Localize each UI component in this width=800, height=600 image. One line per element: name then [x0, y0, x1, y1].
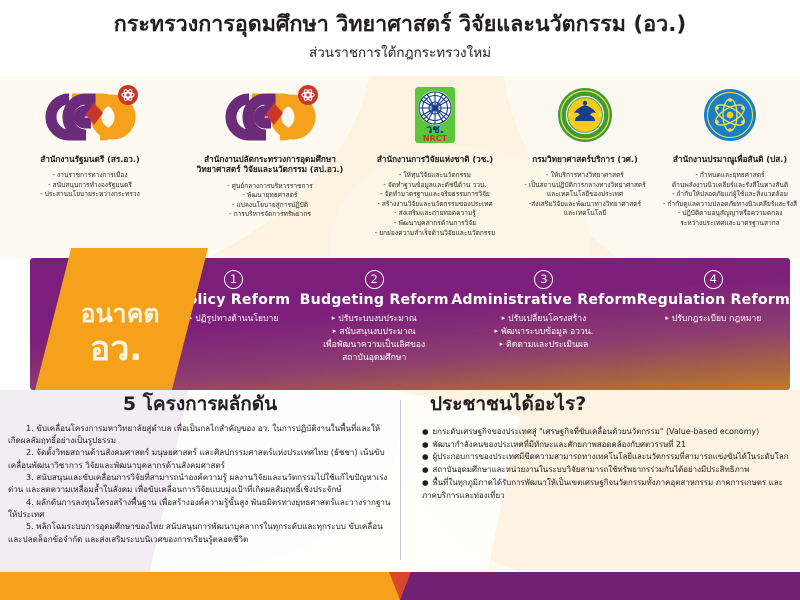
benefit-item: พัฒนากำลังคนของประเทศที่มีทักษะและศักยภา… — [422, 439, 790, 452]
agency-name: กรมวิทยาศาสตร์บริการ (วศ.) — [528, 154, 641, 164]
reform-bullets: ปรับระบบงบประมาณ สนับสนุนงบประมาณ เพื่อพ… — [297, 313, 451, 365]
agency-card-nrct: วช. NRCT สำนักงานการวิจัยแห่งชาติ (วช.) … — [360, 76, 510, 258]
agency-duties: - งานราชการทางการเมือง - สนับสนุนการทำงอ… — [37, 171, 143, 200]
duty-item: ด้านพลังงานนิวเคลียร์และรังสีในทางสันติ — [663, 181, 797, 191]
agency-duties: - ให้บริการทางวิทยาศาสตร์ - เป็นสถานปฏิบ… — [521, 171, 649, 219]
reform-bullet: ปรับเปลี่ยนโครงสร้าง — [451, 313, 636, 326]
footer-bar — [0, 572, 800, 600]
benefits-column: ประชาชนได้อะไร? ยกระดับเศรษฐกิจของประเทศ… — [400, 390, 800, 572]
reform-number: 2 — [365, 270, 384, 289]
agency-card-sp-ow: สำนักงานปลัดกระทรวงการอุดมศึกษา วิทยาศาส… — [180, 76, 360, 258]
dss-garuda-logo — [556, 80, 614, 152]
duty-item: - ให้ทุนวิจัยและนวัตกรรม — [375, 171, 496, 181]
duty-item: - จัดทำมาตรฐานและจริยธรรมการวิจัย — [375, 190, 496, 200]
page-title: กระทรวงการอุดมศึกษา วิทยาศาสตร์ วิจัยและ… — [114, 13, 686, 37]
reform-bullet: พัฒนาระบบข้อมูล อววน. — [451, 326, 636, 339]
page-subtitle: ส่วนราชการใต้กฎกระทรวงใหม่ — [309, 41, 491, 63]
duty-item: -ส่งเสริมวิจัยและพัฒนาทางวิทยาศาสตร์ — [524, 200, 646, 210]
reform-columns: 1 Policy Reform ปฏิรูปทางด้านนโยบาย 2 Bu… — [170, 258, 790, 390]
duty-item: - จัดทำฐานข้อมูลและดัชนีด้าน ววน. — [375, 181, 496, 191]
benefits-title: ประชาชนได้อะไร? — [416, 394, 790, 415]
project-item: 1. ขับเคลื่อนโครงการมหาวิทยาลัยสู่ตำบล เ… — [8, 422, 392, 447]
agency-card-dss: กรมวิทยาศาสตร์บริการ (วศ.) - ให้บริการทา… — [510, 76, 660, 258]
reform-item-budgeting: 2 Budgeting Reform ปรับระบบงบประมาณ สนับ… — [297, 258, 451, 390]
agency-card-oap: สำนักงานปรมาณูเพื่อสันติ (ปส.) - กำหนดแล… — [660, 76, 800, 258]
duty-item: - กำกับให้ปลอดภัยแก่ผู้ใช้และสิ่งแวดล้อม — [663, 190, 797, 200]
benefits-list: ยกระดับเศรษฐกิจของประเทศสู่ "เศรษฐกิจที่… — [416, 426, 790, 503]
page-header: กระทรวงการอุดมศึกษา วิทยาศาสตร์ วิจัยและ… — [0, 0, 800, 76]
duty-item: และเทคโนโลยีของประเทศ — [524, 190, 646, 200]
agency-list: สำนักงานรัฐมนตรี (สร.อว.) - งานราชการทาง… — [0, 76, 800, 258]
future-tag-line1: อนาคต — [80, 301, 159, 326]
duty-item: - สร้างงานวิจัยและนวัตกรรมของประเทศ — [375, 200, 496, 210]
reform-item-regulation: 4 Regulation Reform ปรับกฎระเบียบ กฎหมาย — [637, 258, 790, 390]
nrct-logo-en-text: NRCT — [423, 134, 448, 143]
reform-title: Administrative Reform — [451, 292, 636, 308]
duty-item: - ประสานนโยบายระหว่างกระทรวง — [40, 190, 140, 200]
agency-name: สำนักงานรัฐมนตรี (สร.อว.) — [36, 154, 143, 164]
agency-duties: - กำหนดและยุทธศาสตร์ ด้านพลังงานนิวเคลีย… — [660, 171, 800, 228]
benefit-item: ผู้ประกอบการของประเทศมีขีดความสามารถทางเ… — [422, 451, 790, 464]
nrct-logo: วช. NRCT — [411, 80, 459, 152]
projects-list: 1. ขับเคลื่อนโครงการมหาวิทยาลัยสู่ตำบล เ… — [8, 422, 392, 545]
duty-item: - ยกย่องความสำเร็จด้านวิจัยและนวัตกรรม — [375, 229, 496, 239]
reform-item-administrative: 3 Administrative Reform ปรับเปลี่ยนโครงส… — [451, 258, 636, 390]
duty-item: - กำกับดูแลความปลอดภัยทางนิวเคลียร์และรั… — [663, 200, 797, 210]
reform-bullet: ปรับกฎระเบียบ กฎหมาย — [637, 313, 790, 326]
footer-red-triangle — [389, 572, 411, 600]
lower-section: 5 โครงการผลักดัน 1. ขับเคลื่อนโครงการมหา… — [0, 390, 800, 572]
reform-title: Budgeting Reform — [297, 292, 451, 308]
benefit-item: พื้นที่ในทุกภูมิภาคได้รับการพัฒนาให้เป็น… — [422, 477, 790, 503]
duty-item: - พัฒนาบุคลากรด้านการวิจัย — [375, 219, 496, 229]
reform-bullet: ติดตามและประเมินผล — [451, 339, 636, 352]
duty-item: - การบริหารจัดการทรัพยากร — [227, 210, 313, 220]
footer-orange — [0, 572, 400, 600]
duty-item: - กำหนดและยุทธศาสตร์ — [663, 171, 797, 181]
agency-card-sr-ow: สำนักงานรัฐมนตรี (สร.อว.) - งานราชการทาง… — [0, 76, 180, 258]
agency-name: สำนักงานการวิจัยแห่งชาติ (วช.) — [373, 154, 497, 164]
oap-atom-logo — [701, 80, 759, 152]
reform-bullet: ปรับระบบงบประมาณ — [297, 313, 451, 326]
agency-band: สำนักงานรัฐมนตรี (สร.อว.) - งานราชการทาง… — [0, 76, 800, 258]
reform-subtext: สถาบันอุดมศึกษา — [297, 352, 451, 365]
agency-name: สำนักงานปรมาณูเพื่อสันติ (ปส.) — [669, 154, 791, 164]
project-item: 5. พลิกโฉมระบบการอุดมศึกษาของไทย สนับสนุ… — [8, 520, 392, 545]
ow-ministry-logo — [42, 80, 138, 152]
duty-item: - ให้บริการทางวิทยาศาสตร์ — [524, 171, 646, 181]
reform-subtext: เพื่อพัฒนาความเป็นเลิศของ — [297, 339, 451, 352]
reform-number: 1 — [224, 270, 243, 289]
duty-item: - สนับสนุนการทำงองรัฐมนตรี — [40, 181, 140, 191]
project-item: 3. สนับสนุนและขับเคลื่อนการวิจัยที่สามาร… — [8, 471, 392, 496]
future-tag-line2: อว. — [90, 332, 142, 366]
project-item: 4. ผลักดันการลงทุนโครงสร้างพื้นฐาน เพื่อ… — [8, 496, 392, 521]
duty-item: - แปลงนโยบายสู่การปฏิบัติ — [227, 201, 313, 211]
benefit-item: สถาบันอุดมศึกษาและหน่วยงานในระบบวิจัยสาม… — [422, 464, 790, 477]
project-item: 2. จัดตั้งวิทยสถานด้านสังคมศาสตร์ มนุษยศ… — [8, 446, 392, 471]
reform-number: 4 — [704, 270, 723, 289]
duty-item: - ส่งเสริมและถ่ายทอดความรู้ — [375, 209, 496, 219]
footer-purple — [400, 572, 800, 600]
reform-bullet: สนับสนุนงบประมาณ — [297, 326, 451, 339]
duty-item: - ศูนย์กลางการบริหารราชการ — [227, 182, 313, 192]
duty-item: ระหว่างประเทศและมาตรฐานสากล — [663, 219, 797, 229]
ow-ministry-logo — [222, 80, 318, 152]
projects-column: 5 โครงการผลักดัน 1. ขับเคลื่อนโครงการมหา… — [0, 390, 400, 572]
reform-bullets: ปรับกฎระเบียบ กฎหมาย — [637, 313, 790, 326]
projects-title: 5 โครงการผลักดัน — [8, 394, 392, 415]
infographic-page: กระทรวงการอุดมศึกษา วิทยาศาสตร์ วิจัยและ… — [0, 0, 800, 600]
duty-item: - พัฒนายุทธศาสตร์ — [227, 191, 313, 201]
benefit-item: ยกระดับเศรษฐกิจของประเทศสู่ "เศรษฐกิจที่… — [422, 426, 790, 439]
duty-item: - งานราชการทางการเมือง — [40, 171, 140, 181]
reform-title: Regulation Reform — [637, 292, 790, 308]
agency-duties: - ศูนย์กลางการบริหารราชการ - พัฒนายุทธศา… — [224, 182, 316, 220]
duty-item: - ปฏิบัติตามอนุสัญญาหรือความตกลง — [663, 209, 797, 219]
duty-item: และเทคโนโลยี — [524, 209, 646, 219]
duty-item: - เป็นสถานปฏิบัติการกลางทางวิทยาศาสตร์ — [524, 181, 646, 191]
agency-duties: - ให้ทุนวิจัยและนวัตกรรม - จัดทำฐานข้อมู… — [372, 171, 499, 238]
reform-number: 3 — [534, 270, 553, 289]
reform-bullets: ปรับเปลี่ยนโครงสร้าง พัฒนาระบบข้อมูล อวว… — [451, 313, 636, 352]
agency-name: สำนักงานปลัดกระทรวงการอุดมศึกษา วิทยาศาส… — [193, 154, 348, 175]
